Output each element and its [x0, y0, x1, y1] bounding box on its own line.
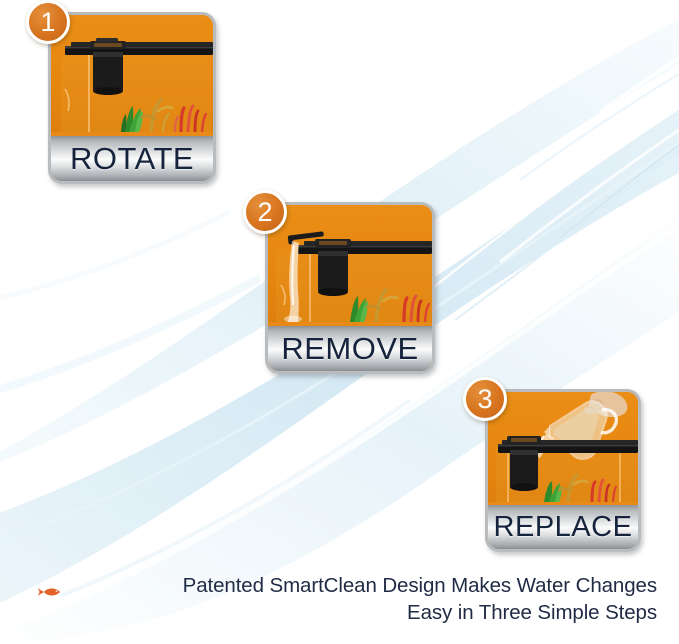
step-label-band-2: REMOVE	[268, 326, 432, 371]
caption-block: Patented SmartClean Design Makes Water C…	[0, 572, 679, 626]
step-tile-3[interactable]: 3	[485, 389, 641, 552]
step-number-2: 2	[257, 199, 272, 226]
step-label-3: REPLACE	[494, 513, 633, 542]
step-label-band-1: ROTATE	[51, 136, 213, 181]
caption-line-2: Easy in Three Simple Steps	[0, 599, 657, 626]
aquarium-scene-1	[51, 15, 213, 132]
fish-icon	[37, 586, 63, 598]
step-tile-inner-2: REMOVE	[268, 205, 432, 371]
step-tile-1[interactable]: 1	[48, 12, 216, 184]
step-tile-2[interactable]: 2	[265, 202, 435, 374]
step-label-2: REMOVE	[281, 333, 418, 364]
step-label-band-3: REPLACE	[488, 505, 638, 549]
step-tile-inner-3: REPLACE	[488, 392, 638, 549]
step-number-badge-3: 3	[463, 377, 507, 421]
step-number-badge-1: 1	[26, 0, 70, 44]
caption-line-1: Patented SmartClean Design Makes Water C…	[0, 572, 657, 599]
step-label-1: ROTATE	[70, 143, 194, 174]
step-tile-inner-1: ROTATE	[51, 15, 213, 181]
step-number-3: 3	[477, 386, 492, 413]
aquarium-scene-2	[268, 205, 432, 322]
step-number-1: 1	[40, 9, 55, 36]
step-number-badge-2: 2	[243, 190, 287, 234]
aquarium-scene-3	[488, 392, 638, 502]
